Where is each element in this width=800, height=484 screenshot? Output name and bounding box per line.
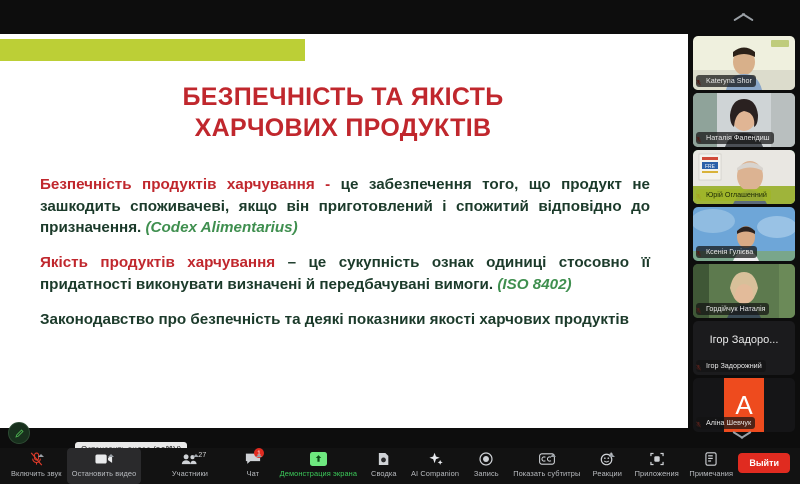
participant-name: Юрій Оглашенний: [696, 189, 771, 202]
microphone-muted-icon: [30, 451, 43, 466]
participant-tile[interactable]: Ігор Задоро... Ігор Задорожний: [693, 321, 795, 375]
share-screen-icon: [310, 451, 327, 466]
toolbar-label: AI Companion: [411, 469, 459, 478]
leave-meeting-button[interactable]: Выйти: [738, 453, 790, 473]
slide-title: БЕЗПЕЧНІСТЬ ТА ЯКІСТЬ ХАРЧОВИХ ПРОДУКТІВ: [88, 82, 598, 143]
toolbar-label: Приложения: [635, 469, 679, 478]
participant-tile[interactable]: Гордійчук Наталія: [693, 264, 795, 318]
chevron-down-icon[interactable]: [732, 431, 754, 442]
participant-strip: Kateryna Shor Наталія Фалендиш: [688, 34, 800, 448]
participant-tile[interactable]: Наталія Фалендиш: [693, 93, 795, 147]
apps-icon: [650, 451, 664, 466]
participant-name: Аліна Шевчук: [696, 417, 755, 430]
participants-icon: 27: [181, 451, 198, 466]
toolbar-label: Участники: [172, 469, 208, 478]
term-label: Безпечність продуктів харчування -: [40, 176, 341, 193]
source-citation: (ISO 8402): [497, 276, 571, 293]
toolbar-button-apps[interactable]: Приложения: [629, 448, 684, 484]
reactions-icon: [600, 451, 614, 466]
chevron-up-icon[interactable]: [609, 454, 615, 457]
chevron-up-icon[interactable]: [256, 454, 262, 457]
meeting-toolbar: Включить звук Остановить видео: [0, 448, 800, 484]
record-icon: [479, 451, 493, 466]
slide-paragraph: Безпечність продуктів харчування - це за…: [40, 174, 650, 239]
paragraph-text: Законодавство про безпечність та деякі п…: [40, 311, 629, 328]
toolbar-button-summary[interactable]: Сводка: [362, 448, 406, 484]
chevron-up-icon[interactable]: [550, 454, 556, 457]
summary-icon: [377, 451, 390, 466]
toolbar-label: Включить звук: [11, 469, 62, 478]
shared-screen-stage: БЕЗПЕЧНІСТЬ ТА ЯКІСТЬ ХАРЧОВИХ ПРОДУКТІВ…: [0, 34, 688, 448]
slide-paragraph: Якість продуктів харчування – це сукупні…: [40, 252, 650, 295]
svg-text:FRE: FRE: [705, 164, 716, 170]
toolbar-label: Примечания: [689, 469, 733, 478]
toolbar-button-record[interactable]: Запись: [464, 448, 508, 484]
chevron-up-icon[interactable]: [733, 12, 755, 23]
toolbar-button-reactions[interactable]: Реакции: [585, 448, 629, 484]
toolbar-button-stop-video[interactable]: Остановить видео: [67, 448, 141, 484]
window-top-bar: [0, 0, 800, 34]
toolbar-button-chat[interactable]: 1 Чат: [231, 448, 275, 484]
toolbar-button-mute[interactable]: Включить звук: [6, 448, 67, 484]
participant-tile-active-speaker[interactable]: FRE Юрій Оглашенний: [693, 150, 795, 204]
slide-paragraph: Законодавство про безпечність та деякі п…: [40, 309, 650, 331]
toolbar-label: Реакции: [593, 469, 622, 478]
participant-tile[interactable]: Ксенія Гулієва: [693, 207, 795, 261]
notes-icon: [705, 451, 717, 466]
participant-display-name: Ігор Задоро...: [693, 334, 795, 346]
participant-name: Гордійчук Наталія: [696, 303, 769, 316]
zoom-meeting-window: БЕЗПЕЧНІСТЬ ТА ЯКІСТЬ ХАРЧОВИХ ПРОДУКТІВ…: [0, 0, 800, 484]
participant-name: Kateryna Shor: [696, 75, 756, 88]
presentation-slide: БЕЗПЕЧНІСТЬ ТА ЯКІСТЬ ХАРЧОВИХ ПРОДУКТІВ…: [0, 34, 688, 428]
ai-sparkle-icon: [428, 451, 443, 466]
slide-title-line-1: БЕЗПЕЧНІСТЬ ТА ЯКІСТЬ: [88, 82, 598, 113]
toolbar-label: Чат: [247, 469, 260, 478]
participant-name: Ксенія Гулієва: [696, 246, 757, 259]
toolbar-label: Остановить видео: [72, 469, 137, 478]
participant-tile[interactable]: A Аліна Шевчук: [693, 378, 795, 432]
toolbar-button-captions[interactable]: Показать субтитры: [508, 448, 585, 484]
annotate-pencil-button[interactable]: [8, 422, 30, 444]
toolbar-button-participants[interactable]: 27 Участники: [166, 448, 213, 484]
pencil-icon: [14, 428, 25, 439]
chevron-up-icon[interactable]: [193, 454, 199, 457]
slide-accent-bar: [0, 39, 305, 61]
captions-icon: [539, 451, 555, 466]
participant-count: 27: [198, 452, 206, 459]
chevron-up-icon[interactable]: [38, 454, 44, 457]
toolbar-label: Сводка: [371, 469, 397, 478]
slide-body: Безпечність продуктів харчування - це за…: [40, 174, 650, 343]
source-citation: (Codex Alimentarius): [146, 219, 298, 236]
toolbar-label: Запись: [474, 469, 499, 478]
toolbar-label: Демонстрация экрана: [280, 469, 357, 478]
term-label: Якість продуктів харчування: [40, 254, 288, 271]
participant-name: Ігор Задорожний: [696, 360, 766, 373]
toolbar-label: Показать субтитры: [513, 469, 580, 478]
camera-icon: [95, 451, 113, 466]
participant-name: Наталія Фалендиш: [696, 132, 774, 145]
chevron-up-icon[interactable]: [108, 454, 114, 457]
chat-icon: 1: [245, 451, 261, 466]
participant-tile[interactable]: Kateryna Shor: [693, 36, 795, 90]
toolbar-button-share-screen[interactable]: Демонстрация экрана: [275, 448, 362, 484]
slide-title-line-2: ХАРЧОВИХ ПРОДУКТІВ: [88, 113, 598, 144]
toolbar-button-notes[interactable]: Примечания: [684, 448, 738, 484]
toolbar-button-ai-companion[interactable]: AI Companion: [406, 448, 464, 484]
